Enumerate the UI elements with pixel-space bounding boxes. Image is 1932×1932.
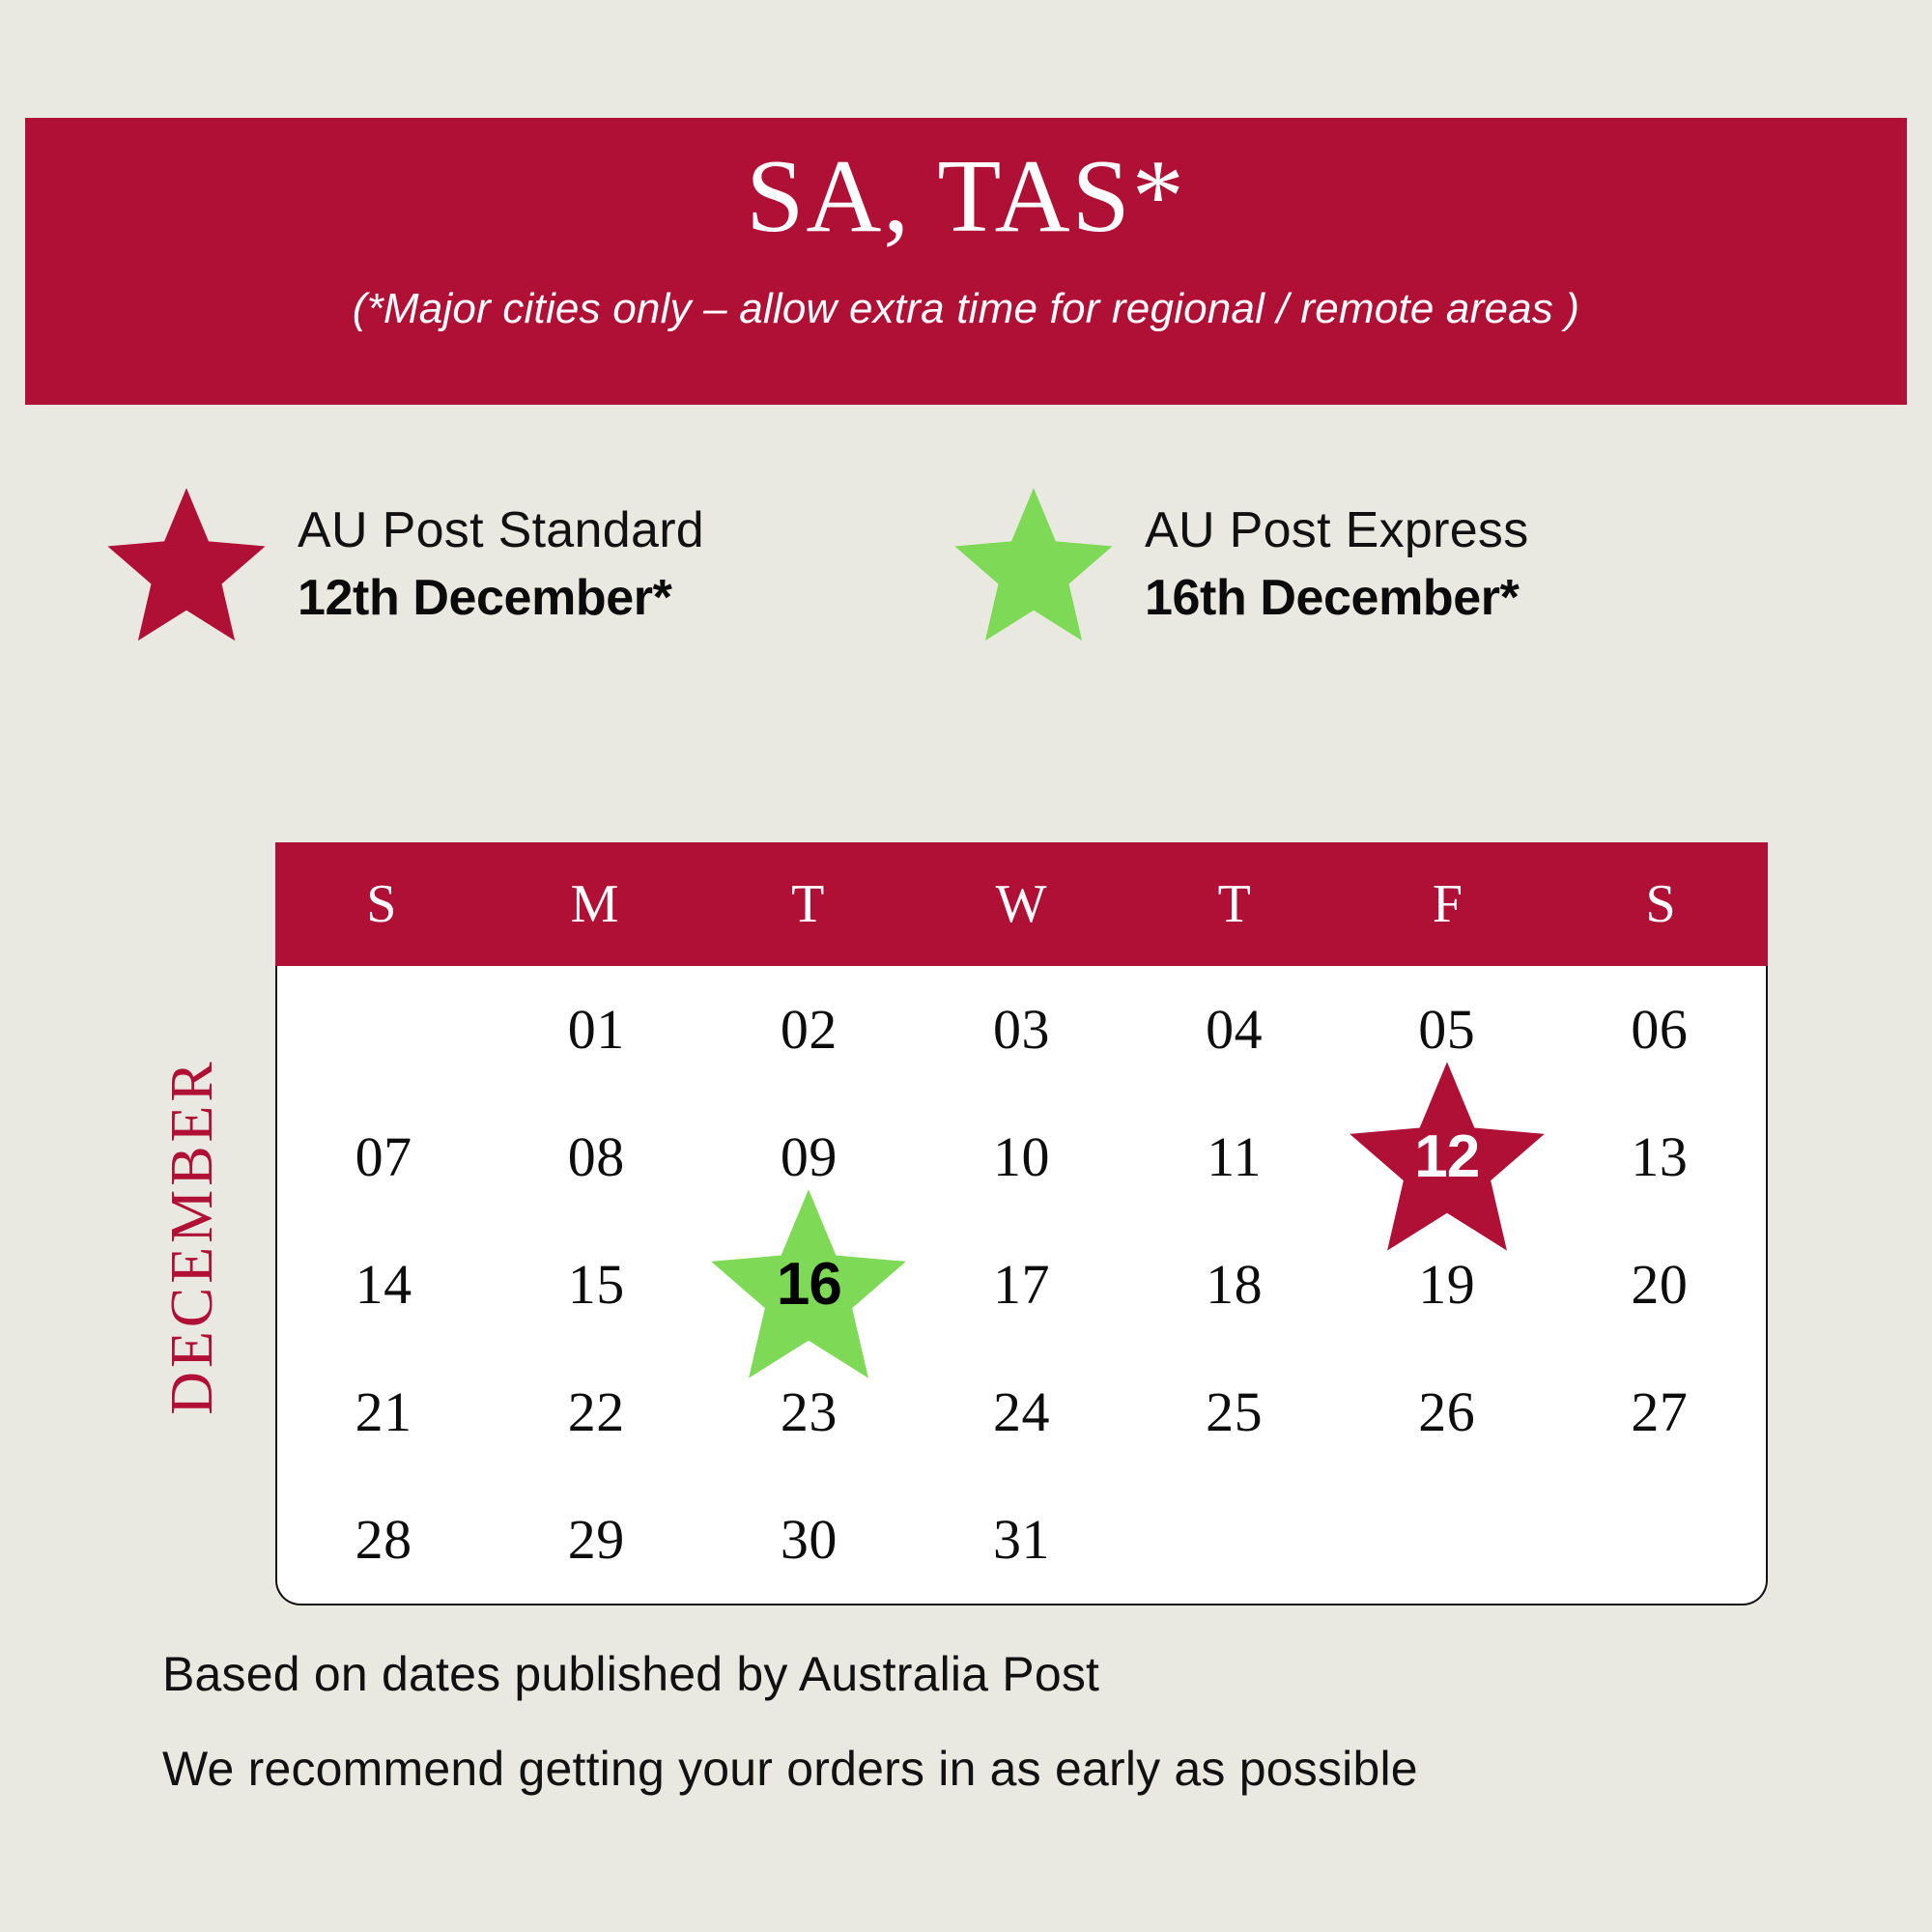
footer-line: We recommend getting your orders in as e… bbox=[162, 1745, 1804, 1793]
calendar-day-10[interactable]: 10 bbox=[915, 1094, 1127, 1221]
calendar-day-23[interactable]: 23 bbox=[702, 1349, 915, 1476]
calendar-day-number: 04 bbox=[1206, 1002, 1263, 1058]
calendar-day-number: 06 bbox=[1631, 1002, 1688, 1058]
red-star-icon bbox=[104, 483, 269, 647]
calendar-day-07[interactable]: 07 bbox=[277, 1094, 490, 1221]
calendar-day-11[interactable]: 11 bbox=[1128, 1094, 1341, 1221]
calendar-day-09[interactable]: 09 bbox=[702, 1094, 915, 1221]
calendar-day-number: 24 bbox=[993, 1384, 1050, 1440]
calendar-day-08[interactable]: 08 bbox=[490, 1094, 702, 1221]
legend-date-standard: 12th December* bbox=[298, 571, 704, 626]
calendar-day-20[interactable]: 20 bbox=[1553, 1221, 1766, 1349]
calendar-day-empty bbox=[1341, 1476, 1553, 1604]
calendar-day-number: 18 bbox=[1206, 1257, 1263, 1313]
calendar-day-number: 23 bbox=[781, 1384, 838, 1440]
calendar-weekday-5: F bbox=[1342, 877, 1555, 931]
footer-line: Based on dates published by Australia Po… bbox=[162, 1650, 1804, 1698]
calendar-day-18[interactable]: 18 bbox=[1128, 1221, 1341, 1349]
header-subtitle: (*Major cities only – allow extra time f… bbox=[353, 288, 1580, 330]
calendar-weekday-6: S bbox=[1554, 877, 1768, 931]
calendar-day-02[interactable]: 02 bbox=[702, 966, 915, 1094]
calendar-weekday-3: W bbox=[915, 877, 1128, 931]
calendar-day-number: 26 bbox=[1418, 1384, 1475, 1440]
calendar-day-empty bbox=[1553, 1476, 1766, 1604]
calendar-weekday-4: T bbox=[1128, 877, 1342, 931]
calendar-day-number: 01 bbox=[568, 1002, 625, 1058]
calendar-day-30[interactable]: 30 bbox=[702, 1476, 915, 1604]
calendar-day-29[interactable]: 29 bbox=[490, 1476, 702, 1604]
month-label: DECEMBER bbox=[162, 995, 222, 1478]
calendar-day-03[interactable]: 03 bbox=[915, 966, 1127, 1094]
calendar-day-13[interactable]: 13 bbox=[1553, 1094, 1766, 1221]
calendar-day-number: 19 bbox=[1418, 1257, 1475, 1313]
calendar-day-14[interactable]: 14 bbox=[277, 1221, 490, 1349]
calendar: SMTWTFS 01020304050607080910111213141516… bbox=[275, 842, 1768, 1605]
page-title: SA, TAS* bbox=[746, 145, 1186, 249]
calendar-day-16[interactable]: 16 bbox=[702, 1221, 915, 1349]
calendar-day-number: 07 bbox=[355, 1129, 412, 1185]
calendar-day-number: 15 bbox=[568, 1257, 625, 1313]
calendar-weekday-0: S bbox=[275, 877, 489, 931]
legend-service-standard: AU Post Standard bbox=[298, 504, 704, 557]
calendar-weekday-2: T bbox=[701, 877, 915, 931]
calendar-day-number: 09 bbox=[781, 1129, 838, 1185]
calendar-day-number: 13 bbox=[1631, 1129, 1688, 1185]
legend-text-standard: AU Post Standard 12th December* bbox=[298, 504, 704, 626]
calendar-day-28[interactable]: 28 bbox=[277, 1476, 490, 1604]
calendar-day-number: 02 bbox=[781, 1002, 838, 1058]
calendar-day-number: 16 bbox=[777, 1255, 841, 1315]
calendar-day-number: 30 bbox=[781, 1512, 838, 1568]
calendar-day-number: 29 bbox=[568, 1512, 625, 1568]
green-star-icon bbox=[952, 483, 1116, 647]
calendar-day-number: 22 bbox=[568, 1384, 625, 1440]
calendar-day-15[interactable]: 15 bbox=[490, 1221, 702, 1349]
calendar-weekday-1: M bbox=[489, 877, 702, 931]
calendar-day-05[interactable]: 05 bbox=[1341, 966, 1553, 1094]
legend-service-express: AU Post Express bbox=[1145, 504, 1529, 557]
calendar-day-31[interactable]: 31 bbox=[915, 1476, 1127, 1604]
calendar-day-21[interactable]: 21 bbox=[277, 1349, 490, 1476]
calendar-day-19[interactable]: 19 bbox=[1341, 1221, 1553, 1349]
calendar-day-24[interactable]: 24 bbox=[915, 1349, 1127, 1476]
calendar-day-empty bbox=[277, 966, 490, 1094]
calendar-day-number: 05 bbox=[1418, 1002, 1475, 1058]
footer-notes: Based on dates published by Australia Po… bbox=[162, 1650, 1804, 1839]
calendar-day-number: 28 bbox=[355, 1512, 412, 1568]
legend-text-express: AU Post Express 16th December* bbox=[1145, 504, 1529, 626]
calendar-day-22[interactable]: 22 bbox=[490, 1349, 702, 1476]
legend: AU Post Standard 12th December* AU Post … bbox=[0, 483, 1932, 667]
calendar-day-04[interactable]: 04 bbox=[1128, 966, 1341, 1094]
legend-item-standard: AU Post Standard 12th December* bbox=[104, 483, 704, 647]
calendar-day-number: 20 bbox=[1631, 1257, 1688, 1313]
calendar-day-number: 12 bbox=[1414, 1127, 1479, 1187]
calendar-day-empty bbox=[1128, 1476, 1341, 1604]
calendar-day-26[interactable]: 26 bbox=[1341, 1349, 1553, 1476]
calendar-day-number: 08 bbox=[568, 1129, 625, 1185]
calendar-day-25[interactable]: 25 bbox=[1128, 1349, 1341, 1476]
calendar-day-number: 11 bbox=[1207, 1129, 1262, 1185]
calendar-day-01[interactable]: 01 bbox=[490, 966, 702, 1094]
calendar-day-number: 03 bbox=[993, 1002, 1050, 1058]
calendar-day-number: 17 bbox=[993, 1257, 1050, 1313]
legend-item-express: AU Post Express 16th December* bbox=[952, 483, 1529, 647]
calendar-weekday-header: SMTWTFS bbox=[275, 842, 1768, 966]
calendar-grid: 0102030405060708091011121314151617181920… bbox=[275, 966, 1768, 1605]
calendar-day-number: 25 bbox=[1206, 1384, 1263, 1440]
calendar-day-06[interactable]: 06 bbox=[1553, 966, 1766, 1094]
header-banner: SA, TAS* (*Major cities only – allow ext… bbox=[25, 118, 1907, 405]
calendar-day-27[interactable]: 27 bbox=[1553, 1349, 1766, 1476]
calendar-day-number: 10 bbox=[993, 1129, 1050, 1185]
calendar-day-12[interactable]: 12 bbox=[1341, 1094, 1553, 1221]
calendar-day-number: 31 bbox=[993, 1512, 1050, 1568]
calendar-day-number: 27 bbox=[1631, 1384, 1688, 1440]
calendar-day-number: 21 bbox=[355, 1384, 412, 1440]
legend-date-express: 16th December* bbox=[1145, 571, 1529, 626]
calendar-day-number: 14 bbox=[355, 1257, 412, 1313]
calendar-day-17[interactable]: 17 bbox=[915, 1221, 1127, 1349]
